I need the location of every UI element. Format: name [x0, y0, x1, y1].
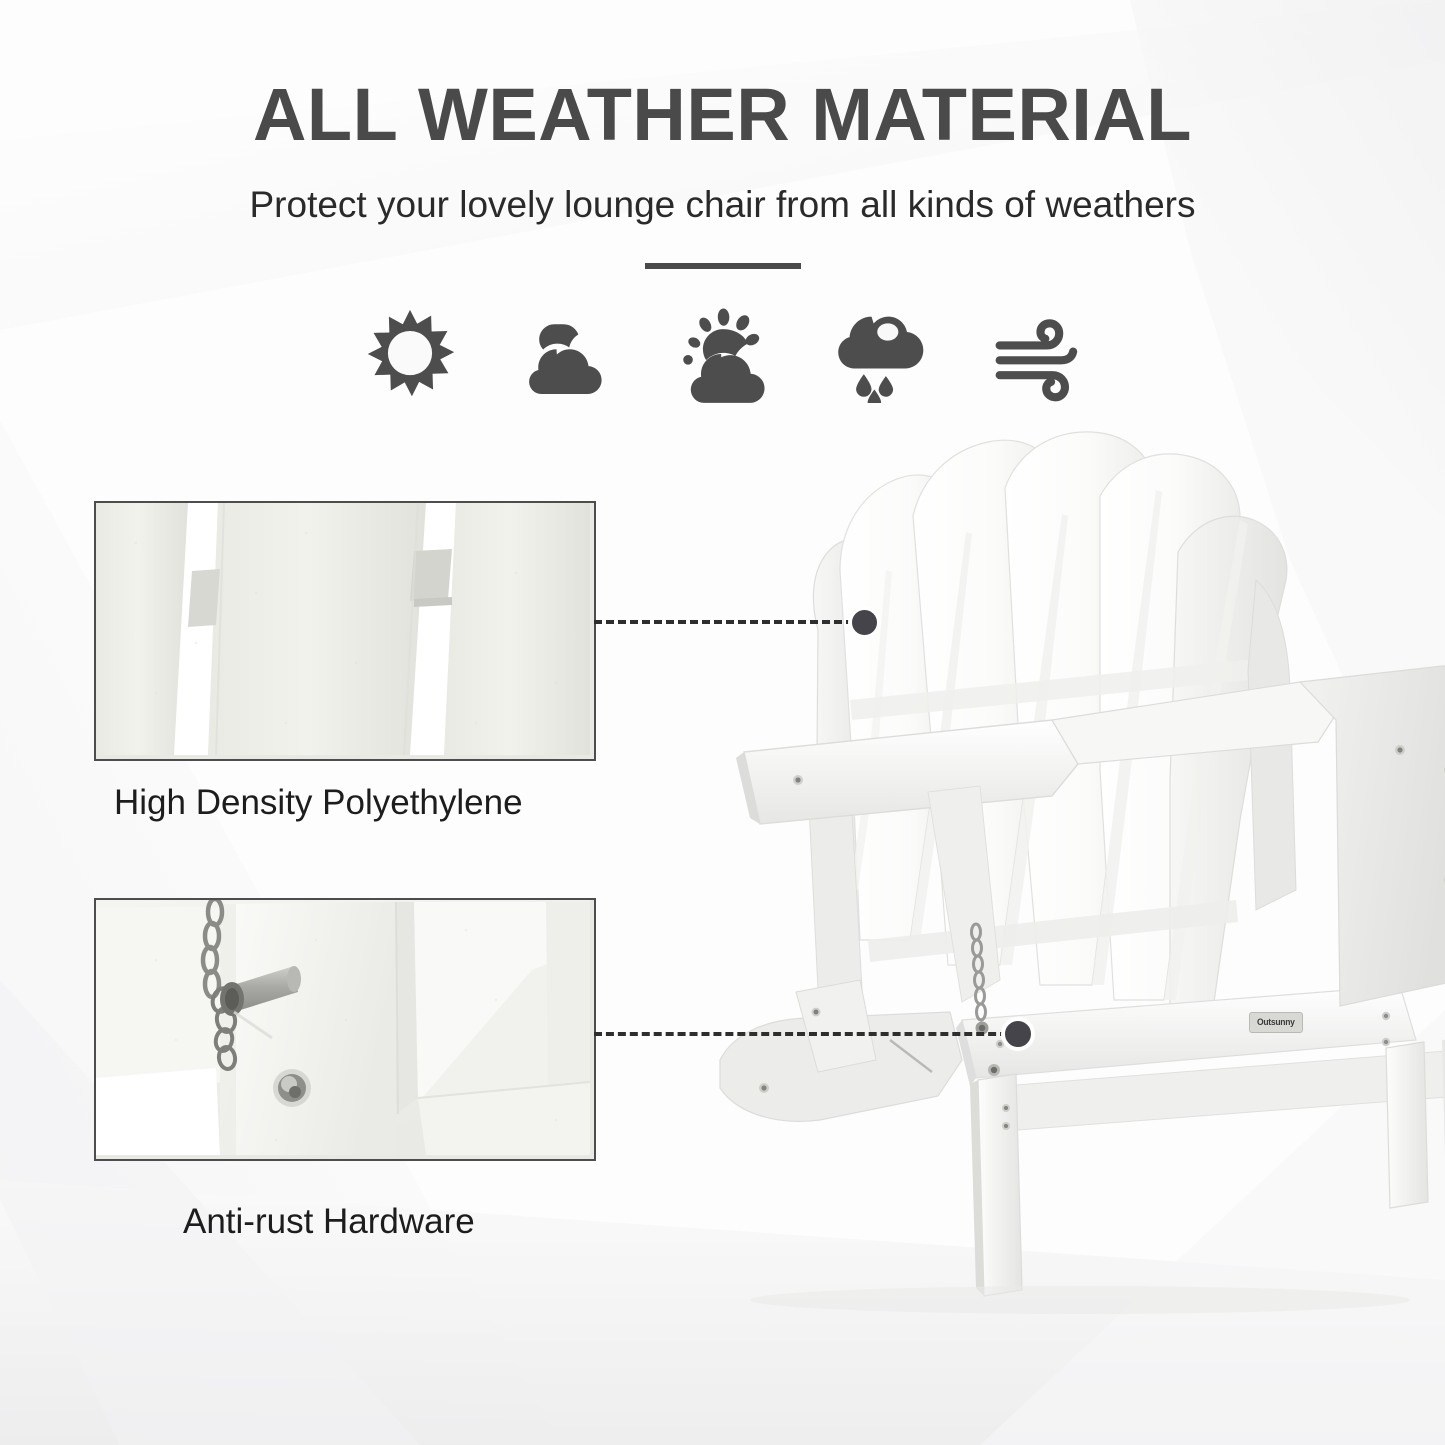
title-divider: [645, 263, 801, 269]
page-subtitle: Protect your lovely lounge chair from al…: [0, 185, 1445, 226]
page-title: ALL WEATHER MATERIAL: [0, 78, 1445, 152]
infographic-canvas: ALL WEATHER MATERIAL Protect your lovely…: [0, 0, 1445, 1445]
partly-sunny-icon: [675, 305, 775, 405]
connector-line-hardware: [594, 1032, 1020, 1036]
detail-closeup-anti-rust-hardware: [94, 898, 596, 1161]
detail-closeup-high-density-polyethylene: [94, 501, 596, 761]
connector-dot-hardware: [1001, 1017, 1035, 1051]
connector-line-hdpe: [594, 620, 866, 624]
detail-label-anti-rust-hardware: Anti-rust Hardware: [183, 1202, 475, 1242]
chair-slats-closeup: [96, 503, 590, 755]
wind-icon: [990, 305, 1090, 405]
cloudy-icon: [518, 305, 618, 405]
weather-icon-row: [360, 300, 1090, 410]
sun-icon: [360, 305, 460, 405]
brand-nameplate: Outsunny: [1249, 1012, 1303, 1033]
product-image-adirondack-chair: [700, 420, 1445, 1320]
connector-dot-hdpe: [848, 606, 881, 639]
brand-nameplate-label: Outsunny: [1257, 1018, 1295, 1027]
chain-pin-rivet-closeup: [96, 900, 590, 1155]
detail-label-high-density-polyethylene: High Density Polyethylene: [114, 783, 523, 823]
rain-icon: [833, 305, 933, 405]
